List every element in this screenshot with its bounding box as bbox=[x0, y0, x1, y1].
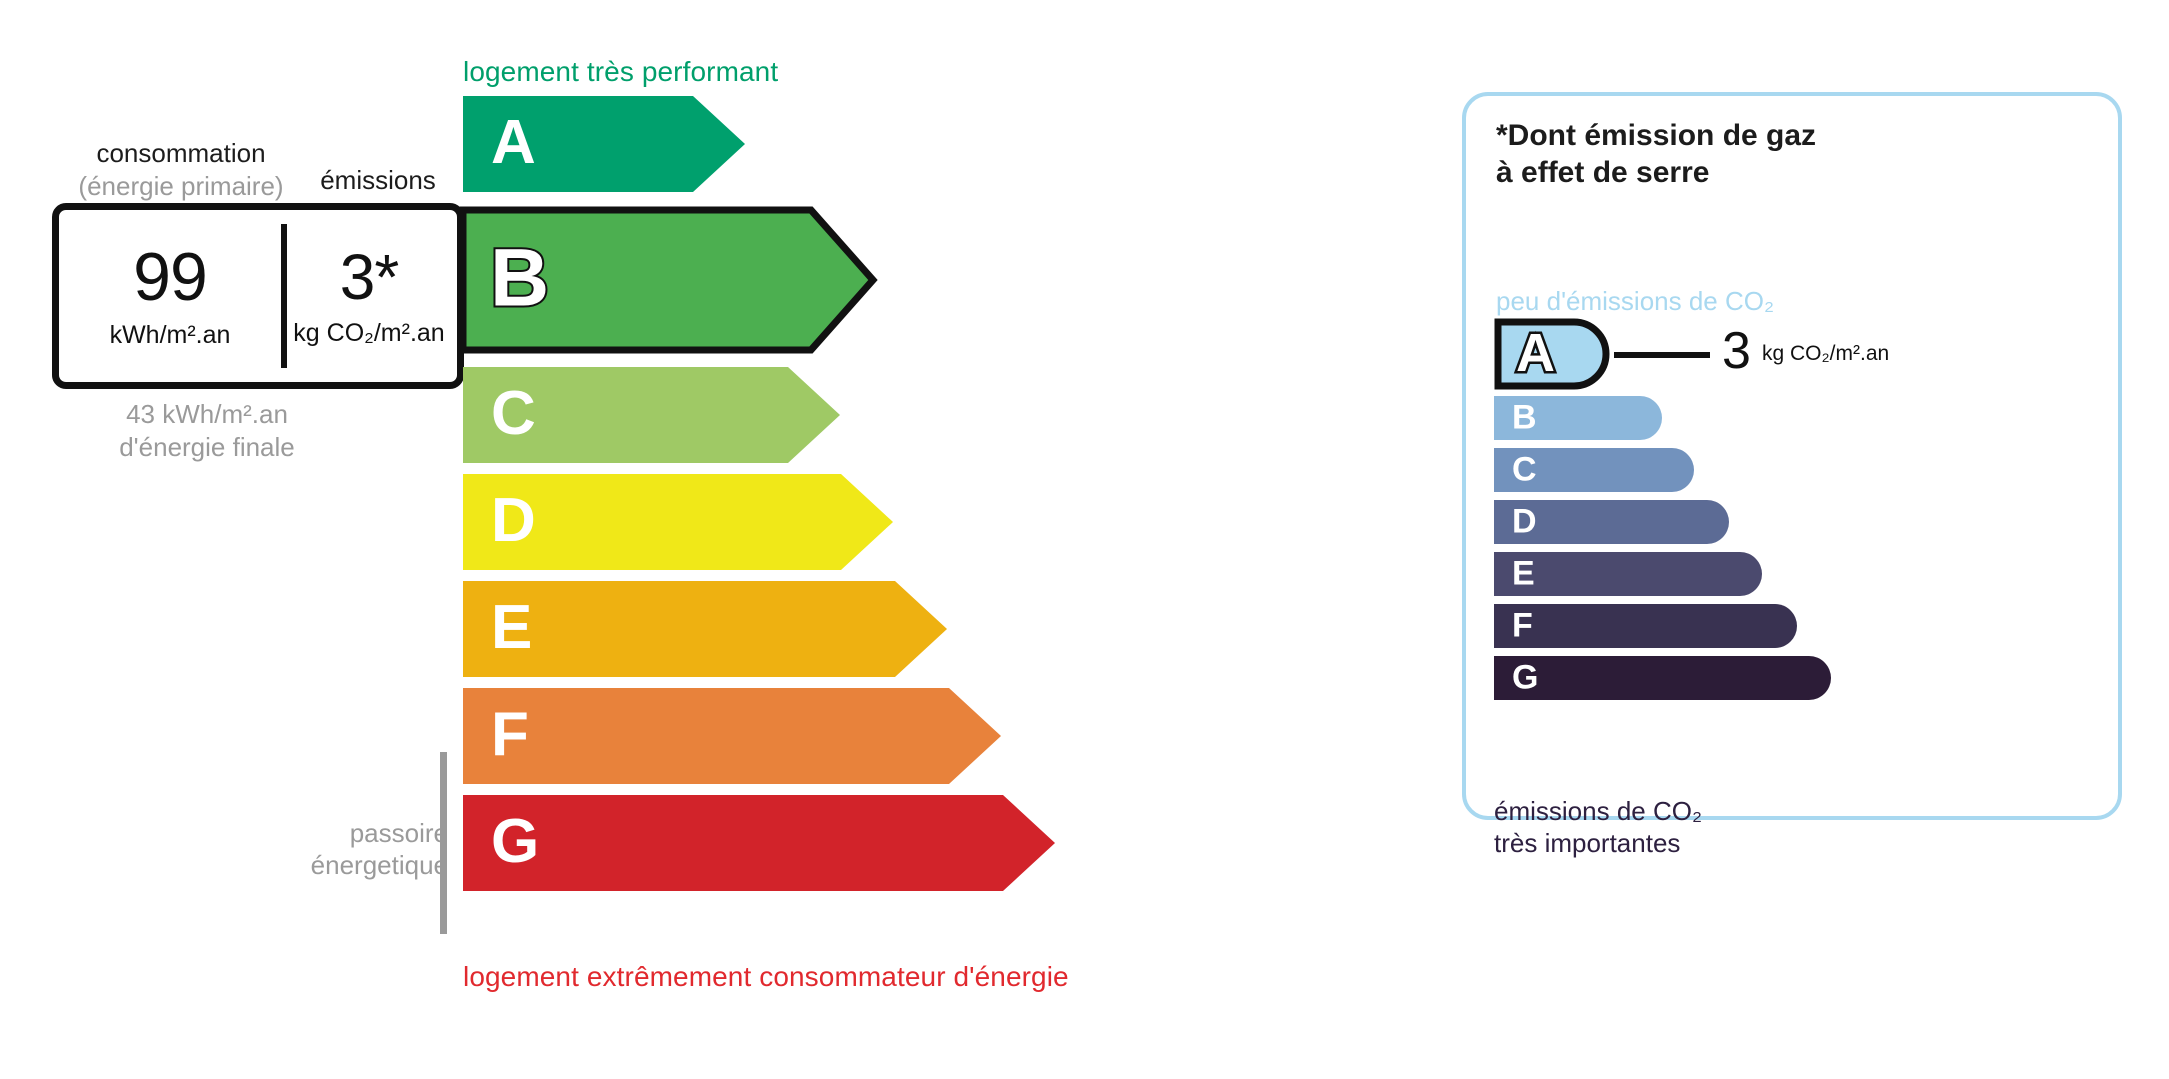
energy-class-bar-f bbox=[463, 688, 1055, 784]
consumption-unit: kWh/m².an bbox=[110, 321, 231, 350]
energy-class-row-a: A bbox=[463, 96, 1055, 192]
co2-bottom-label: émissions de CO₂ très importantes bbox=[1494, 796, 1702, 859]
co2-class-row-d: D bbox=[1494, 500, 1831, 544]
emissions-header: émissions bbox=[288, 165, 468, 196]
co2-bottom-label-line2: très importantes bbox=[1494, 828, 1702, 860]
emission-value: 3* bbox=[340, 245, 399, 309]
energy-class-bar-e bbox=[463, 581, 1055, 677]
co2-class-bar-f bbox=[1494, 604, 1797, 648]
co2-class-bar-g bbox=[1494, 656, 1831, 700]
co2-current-class-letter: A bbox=[1516, 326, 1555, 380]
energy-class-letter-c: C bbox=[491, 383, 536, 445]
co2-class-row-f: F bbox=[1494, 604, 1831, 648]
co2-value: 3 bbox=[1722, 316, 1751, 386]
co2-leader-line bbox=[1614, 352, 1710, 358]
energy-class-row-b: B bbox=[456, 203, 1055, 357]
co2-class-letter-g: G bbox=[1512, 660, 1538, 694]
energy-class-letter-g: G bbox=[491, 811, 539, 873]
emission-unit: kg CO₂/m².an bbox=[293, 319, 444, 348]
energy-class-letter-f: F bbox=[491, 704, 529, 766]
passoire-bracket bbox=[440, 752, 447, 934]
energy-class-letter-a: A bbox=[491, 112, 536, 174]
co2-top-label: peu d'émissions de CO₂ bbox=[1496, 286, 1774, 317]
co2-class-bars: BCDEFG bbox=[1494, 396, 1831, 708]
energy-class-row-g: G bbox=[463, 795, 1055, 891]
consumption-value-cell: 99 kWh/m².an bbox=[59, 210, 281, 382]
energy-class-letter-e: E bbox=[491, 597, 532, 659]
value-box: 99 kWh/m².an 3* kg CO₂/m².an bbox=[52, 203, 464, 389]
energy-class-bar-a bbox=[463, 96, 1055, 192]
co2-panel-title: *Dont émission de gaz à effet de serre bbox=[1496, 118, 1816, 191]
consumption-value: 99 bbox=[133, 243, 207, 311]
co2-class-letter-c: C bbox=[1512, 452, 1537, 486]
energy-class-row-e: E bbox=[463, 581, 1055, 677]
emission-value-cell: 3* kg CO₂/m².an bbox=[281, 210, 457, 382]
co2-class-row-e: E bbox=[1494, 552, 1831, 596]
energy-class-bars: ABCDEFG bbox=[463, 96, 1055, 902]
final-energy-note: 43 kWh/m².an d'énergie finale bbox=[52, 398, 362, 463]
passoire-label: passoire énergetique bbox=[258, 818, 448, 881]
consumption-header: consommation (énergie primaire) bbox=[58, 138, 304, 202]
co2-title-line1: *Dont émission de gaz bbox=[1496, 118, 1816, 155]
co2-class-letter-d: D bbox=[1512, 504, 1537, 538]
energy-class-row-d: D bbox=[463, 474, 1055, 570]
co2-panel: *Dont émission de gaz à effet de serre p… bbox=[1462, 92, 2122, 820]
energy-class-row-f: F bbox=[463, 688, 1055, 784]
co2-unit: kg CO₂/m².an bbox=[1762, 342, 1889, 366]
energy-class-bar-d bbox=[463, 474, 1055, 570]
energy-performance-panel: logement très performant consommation (é… bbox=[0, 0, 1300, 1079]
co2-class-row-b: B bbox=[1494, 396, 1831, 440]
energy-class-bar-g bbox=[463, 795, 1055, 891]
dpe-label: logement très performant consommation (é… bbox=[0, 0, 2169, 1079]
passoire-label-line1: passoire bbox=[258, 818, 448, 850]
co2-bottom-label-line1: émissions de CO₂ bbox=[1494, 796, 1702, 828]
final-energy-value: 43 kWh/m².an bbox=[52, 398, 362, 431]
energy-class-bar-c bbox=[463, 367, 1055, 463]
energy-class-row-c: C bbox=[463, 367, 1055, 463]
final-energy-label: d'énergie finale bbox=[52, 431, 362, 464]
energy-class-letter-d: D bbox=[491, 490, 536, 552]
energy-top-caption: logement très performant bbox=[463, 56, 778, 88]
co2-title-line2: à effet de serre bbox=[1496, 155, 1816, 192]
energy-bottom-caption: logement extrêmement consommateur d'éner… bbox=[463, 961, 1069, 993]
energy-class-letter-b: B bbox=[490, 237, 549, 319]
co2-class-row-g: G bbox=[1494, 656, 1831, 700]
co2-current-class-row: A 3 kg CO₂/m².an bbox=[1494, 318, 2094, 390]
consumption-header-label: consommation bbox=[96, 138, 265, 168]
co2-class-letter-f: F bbox=[1512, 608, 1533, 642]
passoire-label-line2: énergetique bbox=[258, 850, 448, 882]
consumption-header-sublabel: (énergie primaire) bbox=[58, 171, 304, 202]
co2-class-letter-b: B bbox=[1512, 400, 1537, 434]
co2-class-letter-e: E bbox=[1512, 556, 1535, 590]
co2-class-row-c: C bbox=[1494, 448, 1831, 492]
